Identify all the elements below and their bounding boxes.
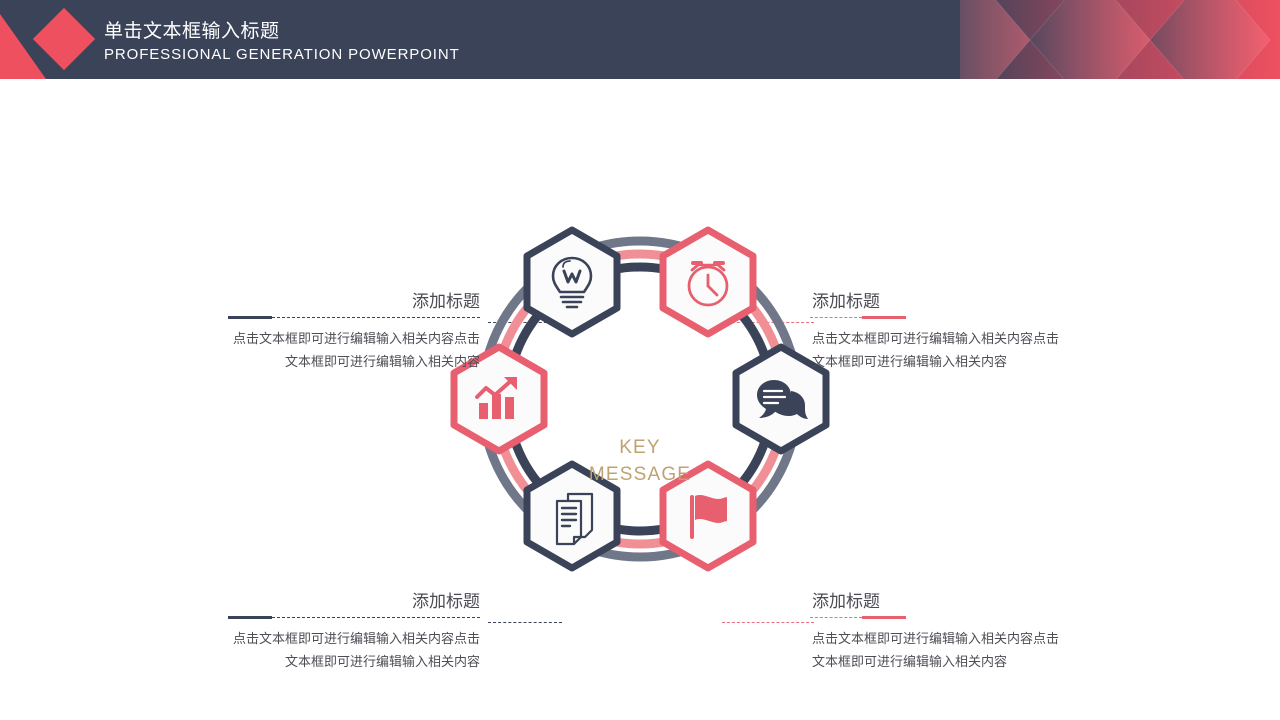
- underline-dashed: [272, 617, 480, 618]
- hexagon-cycle-diagram: [440, 199, 840, 599]
- center-line-2: MESSAGE: [560, 461, 720, 488]
- underline-solid: [228, 316, 272, 319]
- block-underline: [228, 313, 480, 322]
- header-text-group: 单击文本框输入标题 PROFESSIONAL GENERATION POWERP…: [104, 20, 460, 64]
- block-body: 点击文本框即可进行编辑输入相关内容点击文本框即可进行编辑输入相关内容: [228, 627, 480, 673]
- text-block-top-left: 添加标题 点击文本框即可进行编辑输入相关内容点击文本框即可进行编辑输入相关内容: [228, 291, 480, 373]
- document-icon: [557, 494, 592, 544]
- text-block-top-right: 添加标题 点击文本框即可进行编辑输入相关内容点击文本框即可进行编辑输入相关内容: [812, 291, 1064, 373]
- center-line-1: KEY: [560, 434, 720, 461]
- page-subtitle: PROFESSIONAL GENERATION POWERPOINT: [104, 45, 460, 64]
- header-diamond-pattern-decoration: [960, 0, 1280, 79]
- block-title: 添加标题: [812, 591, 1064, 613]
- connector-line-bottom-right: [722, 622, 814, 623]
- slide-header: 单击文本框输入标题 PROFESSIONAL GENERATION POWERP…: [0, 0, 1280, 79]
- underline-solid: [228, 616, 272, 619]
- node-alarmclock[interactable]: [663, 230, 753, 334]
- block-body: 点击文本框即可进行编辑输入相关内容点击文本框即可进行编辑输入相关内容: [228, 327, 480, 373]
- block-body: 点击文本框即可进行编辑输入相关内容点击文本框即可进行编辑输入相关内容: [812, 327, 1064, 373]
- connector-line-bottom-left: [488, 622, 562, 623]
- block-underline: [812, 613, 1064, 622]
- text-block-bottom-right: 添加标题 点击文本框即可进行编辑输入相关内容点击文本框即可进行编辑输入相关内容: [812, 591, 1064, 673]
- underline-dashed: [810, 317, 862, 318]
- hexagon-outline: [527, 230, 617, 334]
- center-key-message: KEY MESSAGE: [560, 434, 720, 488]
- underline-dashed: [810, 617, 862, 618]
- block-underline: [812, 313, 1064, 322]
- block-body: 点击文本框即可进行编辑输入相关内容点击文本框即可进行编辑输入相关内容: [812, 627, 1064, 673]
- page-title: 单击文本框输入标题: [104, 20, 460, 43]
- underline-dashed: [272, 317, 480, 318]
- block-underline: [228, 613, 480, 622]
- block-title: 添加标题: [228, 591, 480, 613]
- underline-solid: [862, 316, 906, 319]
- block-title: 添加标题: [228, 291, 480, 313]
- node-lightbulb[interactable]: [527, 230, 617, 334]
- text-block-bottom-left: 添加标题 点击文本框即可进行编辑输入相关内容点击文本框即可进行编辑输入相关内容: [228, 591, 480, 673]
- slide-body: KEY MESSAGE 添加标题 点击文本框即可进行编辑输入相关内容点击文本框即…: [0, 79, 1280, 720]
- block-title: 添加标题: [812, 291, 1064, 313]
- underline-solid: [862, 616, 906, 619]
